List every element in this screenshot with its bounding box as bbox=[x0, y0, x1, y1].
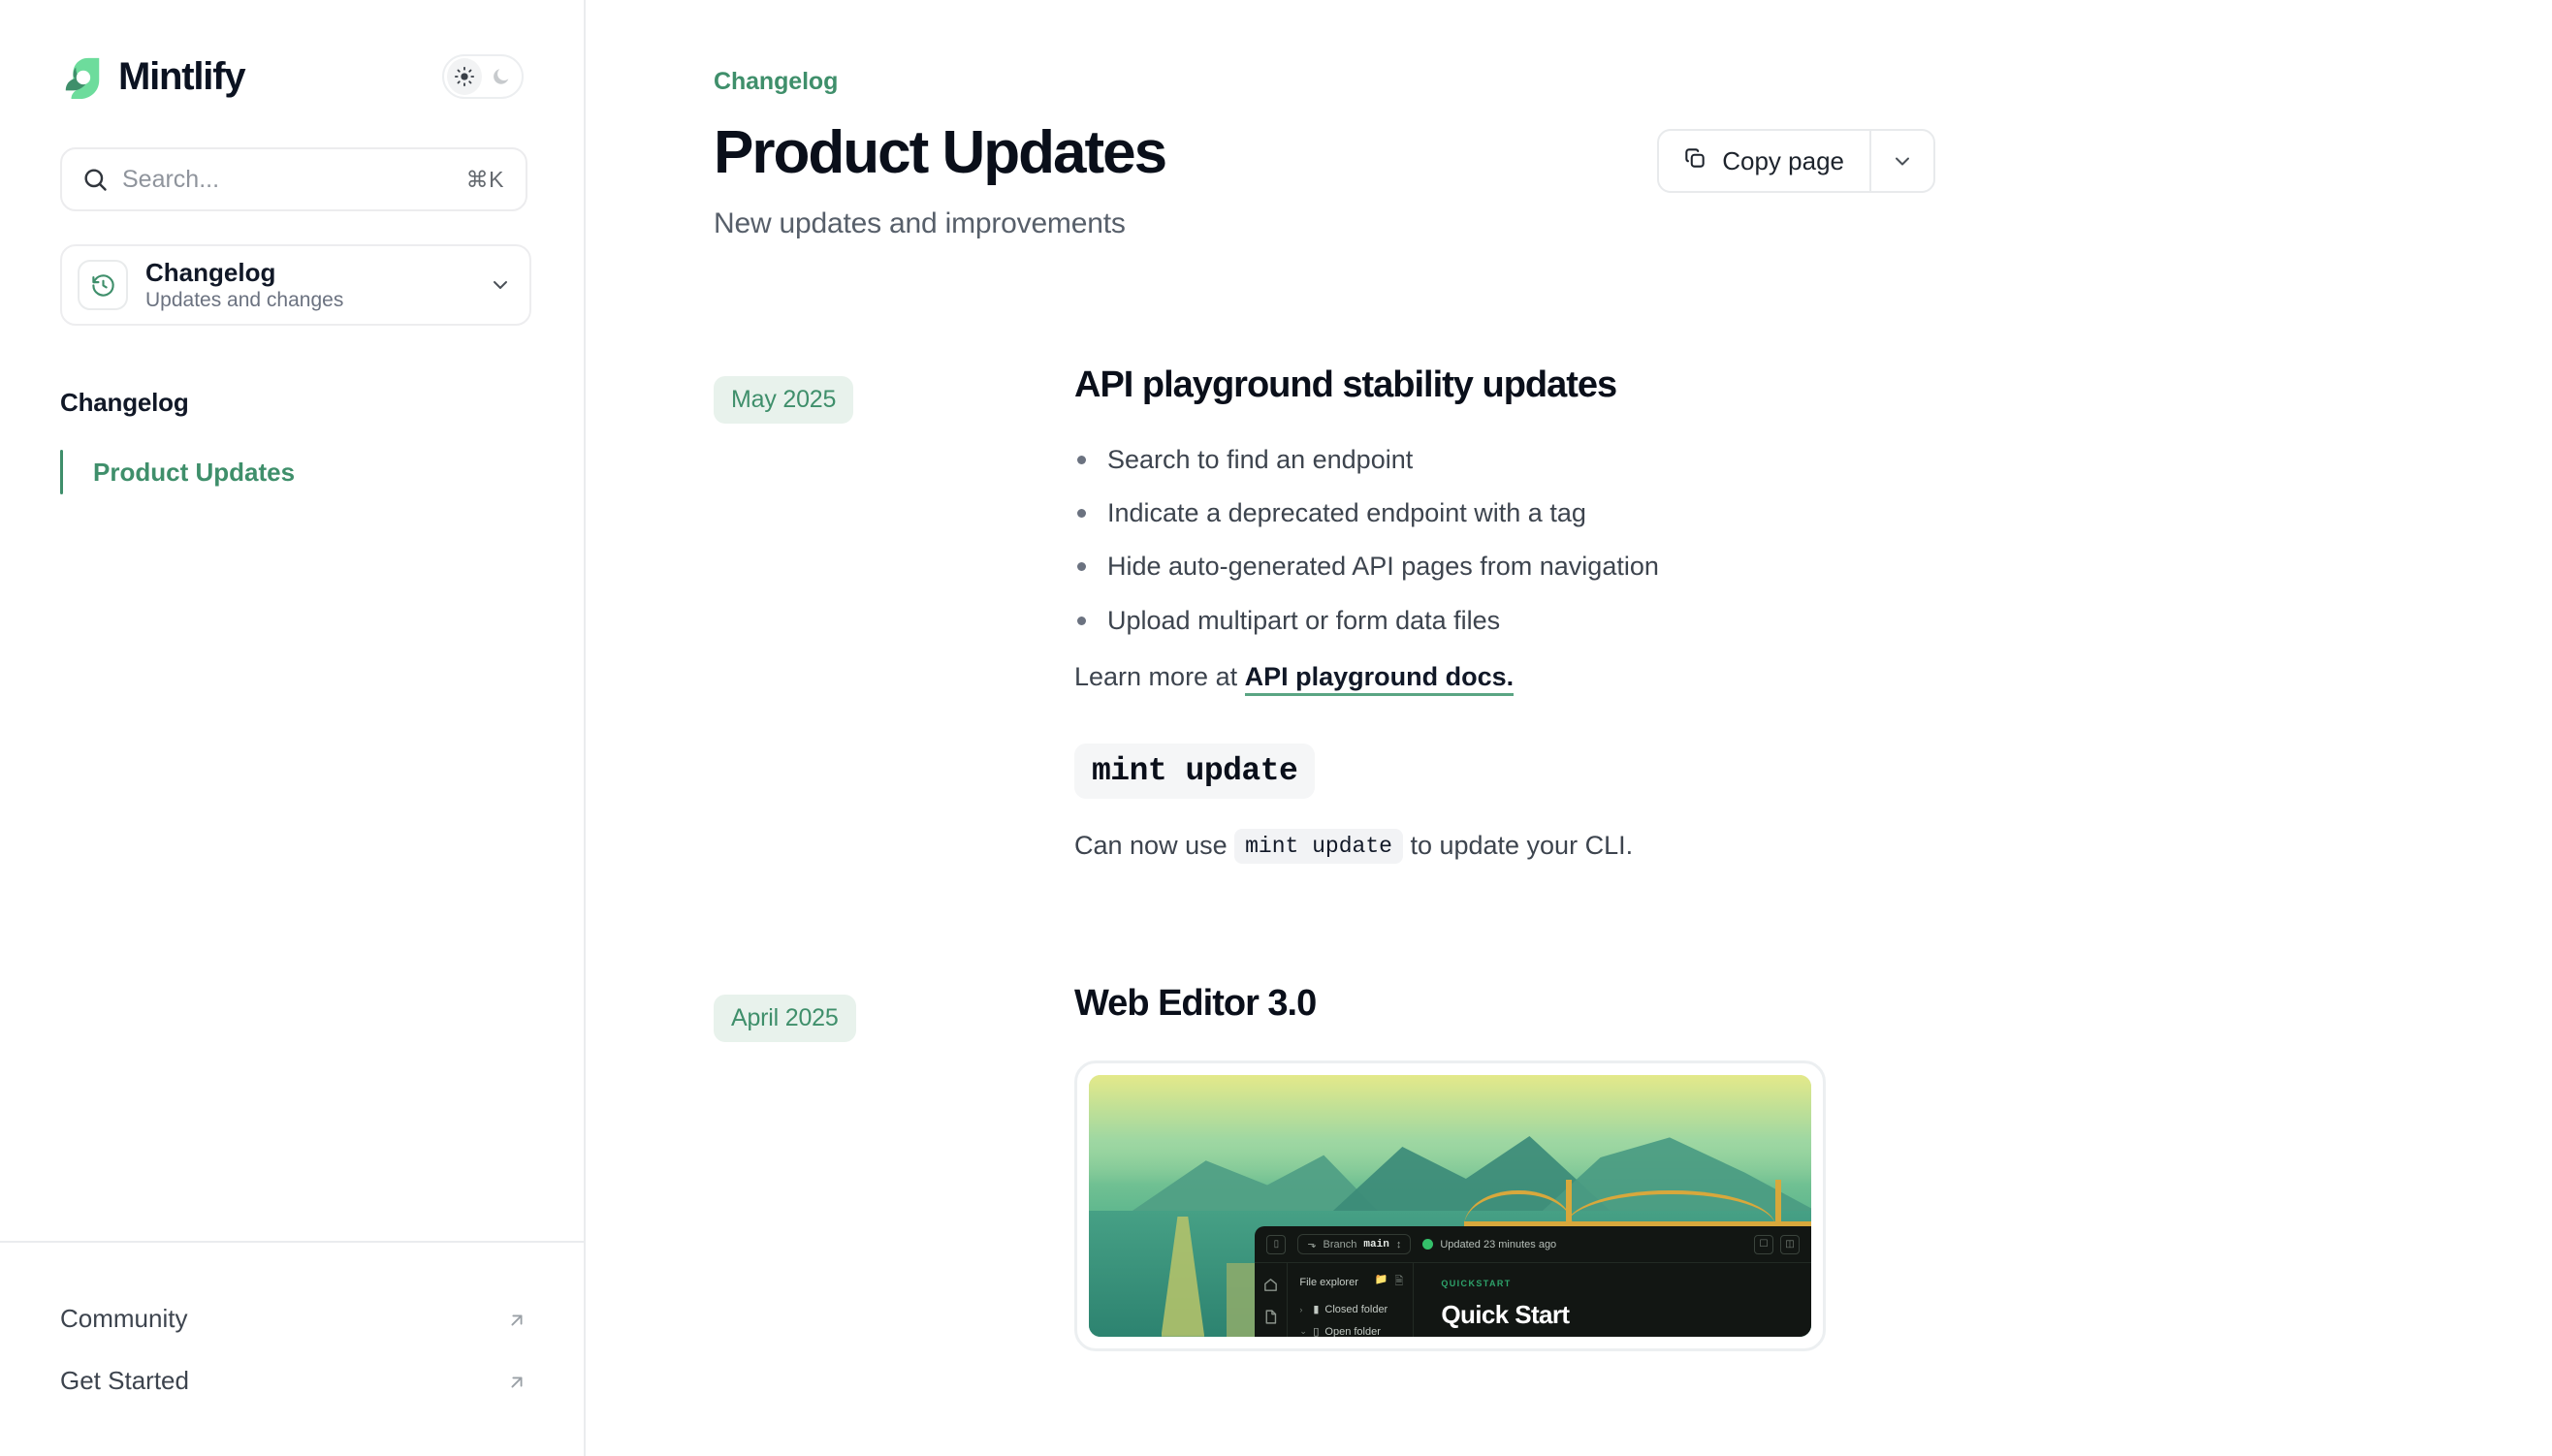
page-header: Product Updates New updates and improvem… bbox=[714, 121, 1877, 240]
copy-page-group: Copy page bbox=[1657, 129, 1935, 193]
chevron-right-icon: › bbox=[1299, 1305, 1307, 1314]
entry-heading: API playground stability updates bbox=[1074, 364, 1877, 407]
search-shortcut-hint: ⌘K bbox=[466, 167, 504, 193]
product-switcher[interactable]: Changelog Updates and changes bbox=[60, 244, 531, 326]
editor-status: Updated 23 minutes ago bbox=[1422, 1239, 1556, 1250]
entry-subheading-code: mint update bbox=[1074, 744, 1315, 799]
sidebar: Mintlify bbox=[0, 0, 586, 1456]
search-input[interactable] bbox=[122, 166, 466, 194]
sidebar-group-title: Changelog bbox=[60, 388, 524, 418]
history-clock-icon bbox=[78, 260, 128, 310]
external-link-arrow-icon bbox=[506, 1370, 527, 1391]
sun-icon[interactable] bbox=[447, 58, 482, 95]
new-folder-icon[interactable]: 📁 bbox=[1375, 1273, 1388, 1291]
preview-icon[interactable]: ☐ bbox=[1754, 1235, 1773, 1254]
brand-row: Mintlify bbox=[60, 47, 524, 107]
list-item: Search to find an endpoint bbox=[1074, 444, 1877, 475]
product-switcher-subtitle: Updates and changes bbox=[145, 289, 489, 311]
panel-toggle-icon[interactable]: ▯ bbox=[1266, 1235, 1286, 1254]
file-explorer-actions: 📁 🗎 bbox=[1375, 1273, 1404, 1291]
web-editor-screenshot: ▯ ⬎ Branch main ↕ bbox=[1074, 1060, 1826, 1351]
bridge-deck bbox=[1464, 1221, 1811, 1226]
page-title-block: Product Updates New updates and improvem… bbox=[714, 121, 1165, 240]
list-item: Hide auto-generated API pages from navig… bbox=[1074, 551, 1877, 582]
folder-open-icon: ▯ bbox=[1313, 1325, 1319, 1336]
entry-heading: Web Editor 3.0 bbox=[1074, 983, 1877, 1026]
copy-page-button[interactable]: Copy page bbox=[1659, 131, 1869, 191]
copy-page-label: Copy page bbox=[1722, 146, 1844, 176]
embedded-editor-panel: ▯ ⬎ Branch main ↕ bbox=[1255, 1226, 1811, 1336]
search-box[interactable]: ⌘K bbox=[60, 147, 527, 211]
entry-bullet-list: Search to find an endpoint Indicate a de… bbox=[1074, 444, 1877, 637]
file-explorer-row-label: Open folder bbox=[1324, 1326, 1380, 1337]
split-view-icon[interactable]: ◫ bbox=[1780, 1235, 1800, 1254]
pages-icon[interactable] bbox=[1262, 1309, 1279, 1325]
branch-label: Branch bbox=[1324, 1239, 1357, 1250]
sidebar-top: Mintlify bbox=[0, 0, 584, 326]
chevron-updown-icon: ↕ bbox=[1396, 1239, 1402, 1250]
sidebar-footer-link-get-started[interactable]: Get Started bbox=[60, 1349, 527, 1411]
brand-logo-link[interactable]: Mintlify bbox=[60, 54, 244, 99]
page-subtitle: New updates and improvements bbox=[714, 207, 1165, 240]
editor-activity-rail bbox=[1255, 1263, 1288, 1336]
theme-toggle[interactable] bbox=[442, 54, 524, 99]
file-explorer-row[interactable]: › ▮ Closed folder bbox=[1299, 1303, 1403, 1315]
footer-link-label: Community bbox=[60, 1304, 187, 1334]
entry-date-column: April 2025 bbox=[714, 983, 1072, 1042]
docs-page: Mintlify bbox=[0, 0, 2552, 1456]
screenshot-canvas: ▯ ⬎ Branch main ↕ bbox=[1089, 1075, 1811, 1337]
file-explorer-row-label: Closed folder bbox=[1324, 1304, 1388, 1315]
entry-body: Web Editor 3.0 bbox=[1072, 983, 1877, 1351]
folder-closed-icon: ▮ bbox=[1313, 1303, 1319, 1315]
document-title: Quick Start bbox=[1441, 1300, 1811, 1330]
list-item: Indicate a deprecated endpoint with a ta… bbox=[1074, 497, 1877, 528]
bridge-tower bbox=[1566, 1180, 1572, 1229]
breadcrumb[interactable]: Changelog bbox=[714, 68, 1877, 96]
editor-toolbar: ▯ ⬎ Branch main ↕ bbox=[1255, 1226, 1811, 1263]
sidebar-nav: Changelog Product Updates bbox=[0, 388, 584, 497]
sidebar-item-label: Product Updates bbox=[93, 458, 295, 488]
changelog-entry: April 2025 Web Editor 3.0 bbox=[714, 983, 1877, 1351]
file-explorer-title: File explorer bbox=[1299, 1277, 1358, 1288]
check-circle-icon bbox=[1422, 1239, 1433, 1250]
new-file-icon[interactable]: 🗎 bbox=[1394, 1273, 1403, 1291]
file-explorer-header: File explorer 📁 🗎 bbox=[1299, 1273, 1403, 1291]
copy-icon bbox=[1682, 145, 1707, 177]
bridge-tower bbox=[1775, 1180, 1781, 1229]
page-title: Product Updates bbox=[714, 121, 1165, 186]
entry-date-column: May 2025 bbox=[714, 364, 1072, 424]
inline-code: mint update bbox=[1234, 829, 1403, 864]
chevron-down-icon bbox=[1891, 149, 1914, 173]
product-switcher-text: Changelog Updates and changes bbox=[145, 259, 489, 312]
footer-link-label: Get Started bbox=[60, 1366, 189, 1396]
branch-selector[interactable]: ⬎ Branch main ↕ bbox=[1297, 1234, 1411, 1254]
file-explorer-panel: File explorer 📁 🗎 › bbox=[1288, 1263, 1414, 1336]
changelog-entry: May 2025 API playground stability update… bbox=[714, 364, 1877, 863]
status-text: Updated 23 minutes ago bbox=[1440, 1239, 1556, 1250]
cli-note-paragraph: Can now use mint update to update your C… bbox=[1074, 828, 1877, 863]
learn-more-prefix: Learn more at bbox=[1074, 662, 1245, 691]
article-column: Changelog Product Updates New updates an… bbox=[714, 68, 1877, 1351]
git-branch-icon: ⬎ bbox=[1307, 1238, 1316, 1250]
file-explorer-row[interactable]: ⌄ ▯ Open folder bbox=[1299, 1325, 1403, 1336]
sidebar-item-product-updates[interactable]: Product Updates bbox=[60, 447, 524, 497]
chevron-down-icon: ⌄ bbox=[1299, 1326, 1307, 1336]
sidebar-nav-items: Product Updates bbox=[60, 447, 524, 497]
changelog-entries: May 2025 API playground stability update… bbox=[714, 364, 1877, 1351]
sidebar-footer: Community Get Started bbox=[0, 1241, 584, 1456]
copy-page-dropdown-button[interactable] bbox=[1869, 131, 1933, 191]
branch-name: main bbox=[1363, 1239, 1388, 1250]
moon-icon[interactable] bbox=[484, 58, 519, 95]
product-switcher-title: Changelog bbox=[145, 259, 489, 287]
external-link-arrow-icon bbox=[506, 1308, 527, 1329]
cli-note-suffix: to update your CLI. bbox=[1403, 831, 1633, 860]
editor-document-preview: QUICKSTART Quick Start bbox=[1414, 1263, 1811, 1336]
date-badge: May 2025 bbox=[714, 376, 853, 424]
learn-more-paragraph: Learn more at API playground docs. bbox=[1074, 659, 1877, 694]
home-icon[interactable] bbox=[1262, 1277, 1279, 1293]
date-badge: April 2025 bbox=[714, 995, 856, 1042]
list-item: Upload multipart or form data files bbox=[1074, 605, 1877, 636]
editor-body: File explorer 📁 🗎 › bbox=[1255, 1263, 1811, 1336]
cli-note-prefix: Can now use bbox=[1074, 831, 1234, 860]
document-eyebrow: QUICKSTART bbox=[1441, 1279, 1811, 1288]
api-playground-docs-link[interactable]: API playground docs. bbox=[1245, 662, 1515, 696]
search-icon bbox=[81, 166, 109, 193]
brand-name: Mintlify bbox=[118, 57, 244, 96]
sidebar-footer-link-community[interactable]: Community bbox=[60, 1287, 527, 1349]
editor-toolbar-actions: ☐ ◫ bbox=[1754, 1235, 1800, 1254]
mintlify-leaf-logo-icon bbox=[60, 54, 105, 99]
entry-body: API playground stability updates Search … bbox=[1072, 364, 1877, 863]
chevron-down-icon[interactable] bbox=[489, 273, 512, 297]
main-content: Changelog Product Updates New updates an… bbox=[586, 0, 2552, 1456]
